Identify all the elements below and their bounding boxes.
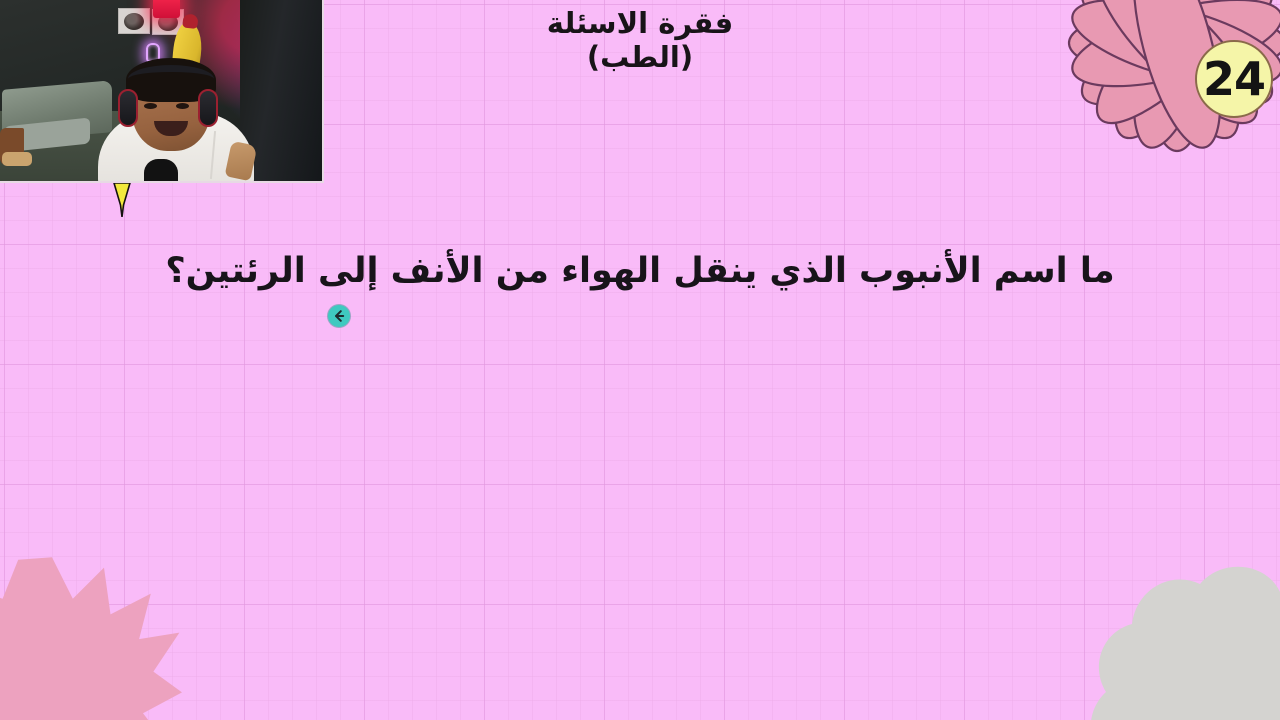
down-arrow-marker-icon [112,183,132,217]
headphone-cup-left-icon [118,89,138,127]
headphone-cup-right-icon [198,89,218,127]
microphone-icon [144,159,178,183]
starburst-icon [0,552,182,720]
webcam-neon-red-sign [153,0,180,18]
webcam-shoe-secondary [2,152,32,166]
back-arrow-icon[interactable] [328,305,350,327]
webcam-person [92,59,260,181]
question-text: ما اسم الأنبوب الذي ينقل الهواء من الأنف… [60,248,1220,295]
streamer-webcam[interactable] [0,0,324,183]
question-counter-value: 24 [1203,56,1265,102]
cloud-icon [1080,540,1280,720]
question-counter-badge: 24 [1195,40,1273,118]
webcam-person-eye-left [144,103,157,109]
webcam-poster-left [118,8,150,34]
headphone-band-icon [128,65,214,93]
quiz-slide-stage: 24 فقرة الاسئلة (الطب) [0,0,1280,720]
webcam-person-eye-right [176,103,189,109]
